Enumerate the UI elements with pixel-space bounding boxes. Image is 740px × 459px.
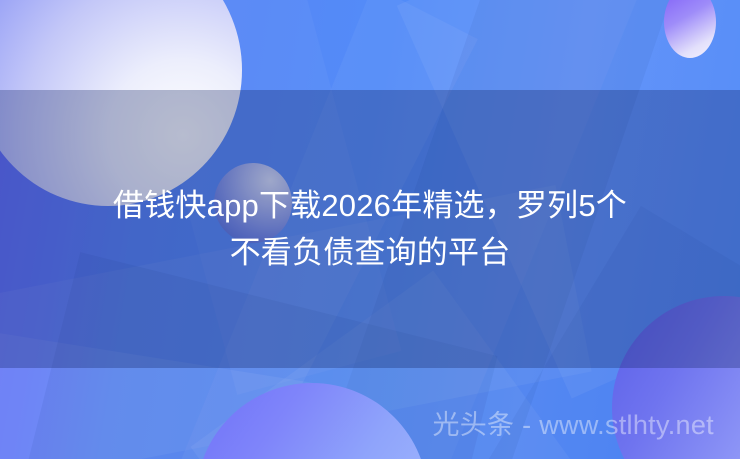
site-watermark: 光头条 - www.stlhty.net [0,408,714,442]
banner-title-line-1: 借钱快app下载2026年精选，罗列5个 [0,182,740,229]
banner-title: 借钱快app下载2026年精选，罗列5个 不看负债查询的平台 [0,182,740,276]
banner-title-line-2: 不看负债查询的平台 [0,229,740,276]
promo-banner: 借钱快app下载2026年精选，罗列5个 不看负债查询的平台 光头条 - www… [0,0,740,459]
